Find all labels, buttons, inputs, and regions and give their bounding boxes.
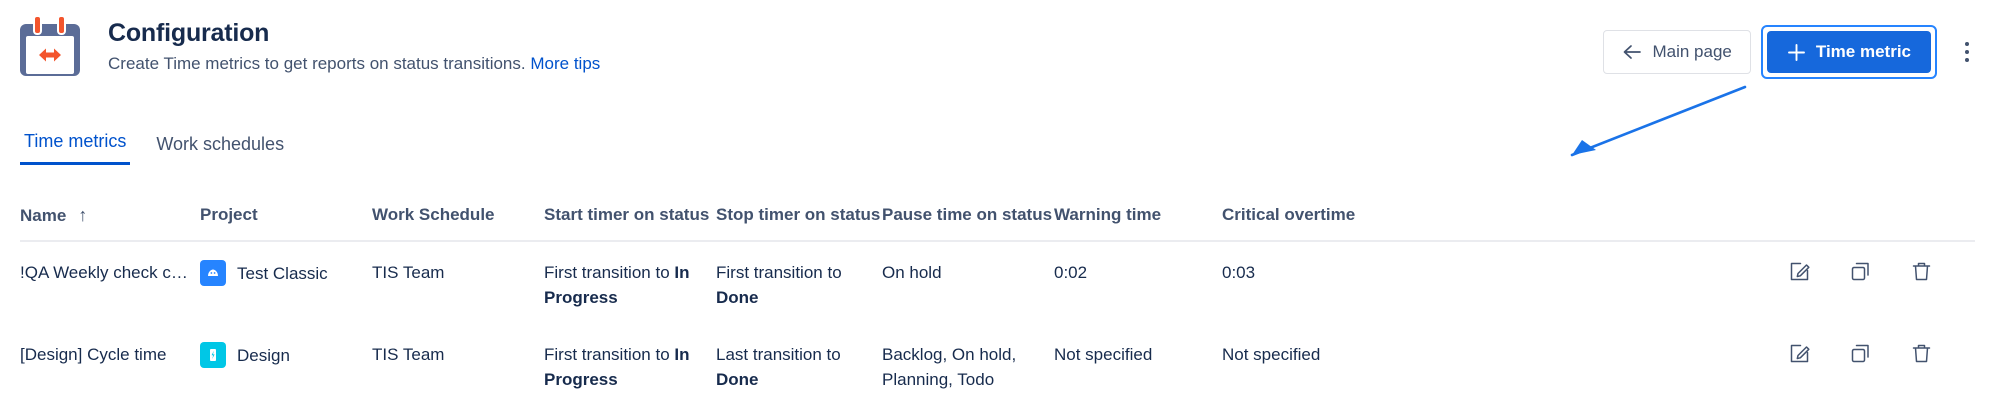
cell-name: !QA Weekly check cr... [20,260,200,285]
page-title: Configuration [108,18,600,48]
page-subtitle-text: Create Time metrics to get reports on st… [108,54,526,73]
cell-project: Test Classic [200,260,372,286]
column-header-name[interactable]: Name ↑ [20,205,200,226]
page-subtitle: Create Time metrics to get reports on st… [108,53,600,75]
cell-stop-timer-status: Done [716,288,759,307]
table-header-row: Name ↑ Project Work Schedule Start timer… [20,205,1975,242]
project-avatar [200,342,226,368]
cell-project-label: Test Classic [237,261,328,286]
cell-stop-timer-status: Done [716,370,759,389]
table-row[interactable]: !QA Weekly check cr... Test Classic TIS … [20,242,1975,324]
edit-pencil-icon[interactable] [1788,260,1811,283]
table-row[interactable]: [Design] Cycle time Design TIS Team Firs… [20,324,1975,406]
cell-start-timer-prefix: First transition to [544,345,674,364]
cell-warning-time: Not specified [1054,342,1222,367]
cell-work-schedule: TIS Team [372,260,544,285]
column-header-stop-timer[interactable]: Stop timer on status [716,205,882,225]
column-header-start-timer[interactable]: Start timer on status [544,205,716,225]
cell-pause-time: Backlog, On hold, Planning, Todo [882,342,1054,392]
time-metric-button-focus-ring: Time metric [1761,25,1937,79]
time-metric-button[interactable]: Time metric [1767,31,1931,73]
cell-stop-timer-prefix: Last transition to [716,345,841,364]
time-metric-button-label: Time metric [1816,42,1911,62]
cell-stop-timer: Last transition to Done [716,342,882,392]
column-header-warning-time[interactable]: Warning time [1054,205,1222,225]
trash-icon[interactable] [1910,342,1933,365]
edit-pencil-icon[interactable] [1788,342,1811,365]
more-tips-link[interactable]: More tips [530,54,600,73]
column-header-project[interactable]: Project [200,205,372,225]
title-block: Configuration Create Time metrics to get… [108,18,600,75]
main-page-button[interactable]: Main page [1603,30,1750,74]
time-metrics-table: Name ↑ Project Work Schedule Start timer… [20,205,1975,406]
cell-project: Design [200,342,372,368]
tab-work-schedules[interactable]: Work schedules [152,134,288,165]
page-header: Configuration Create Time metrics to get… [0,0,2005,105]
cell-work-schedule: TIS Team [372,342,544,367]
column-header-name-label: Name [20,206,66,226]
cell-pause-time: On hold [882,260,1054,285]
cell-warning-time: 0:02 [1054,260,1222,285]
tab-time-metrics[interactable]: Time metrics [20,131,130,165]
project-avatar [200,260,226,286]
cell-start-timer: First transition to In Progress [544,342,716,392]
cell-stop-timer: First transition to Done [716,260,882,310]
trash-icon[interactable] [1910,260,1933,283]
plus-icon [1787,43,1806,62]
header-actions: Main page Time metric [1603,25,1987,79]
cell-actions [1478,342,1975,365]
cell-name: [Design] Cycle time [20,342,200,367]
column-header-work-schedule[interactable]: Work Schedule [372,205,544,225]
cell-critical-overtime: 0:03 [1222,260,1478,285]
cell-actions [1478,260,1975,283]
configuration-page: Configuration Create Time metrics to get… [0,0,2005,409]
cell-project-label: Design [237,343,290,368]
cell-critical-overtime: Not specified [1222,342,1478,367]
tab-bar: Time metrics Work schedules [20,131,288,165]
cell-start-timer-prefix: First transition to [544,263,674,282]
cell-start-timer: First transition to In Progress [544,260,716,310]
column-header-pause-time[interactable]: Pause time on status [882,205,1054,225]
main-page-button-label: Main page [1652,42,1731,62]
cell-stop-timer-prefix: First transition to [716,263,842,282]
duplicate-icon[interactable] [1849,260,1872,283]
calendar-time-icon [20,14,80,76]
column-header-critical-overtime[interactable]: Critical overtime [1222,205,1478,225]
sort-ascending-icon: ↑ [78,205,87,226]
more-vertical-icon[interactable] [1947,30,1987,74]
duplicate-icon[interactable] [1849,342,1872,365]
double-arrow-icon [31,45,69,65]
arrow-left-icon [1622,43,1642,61]
